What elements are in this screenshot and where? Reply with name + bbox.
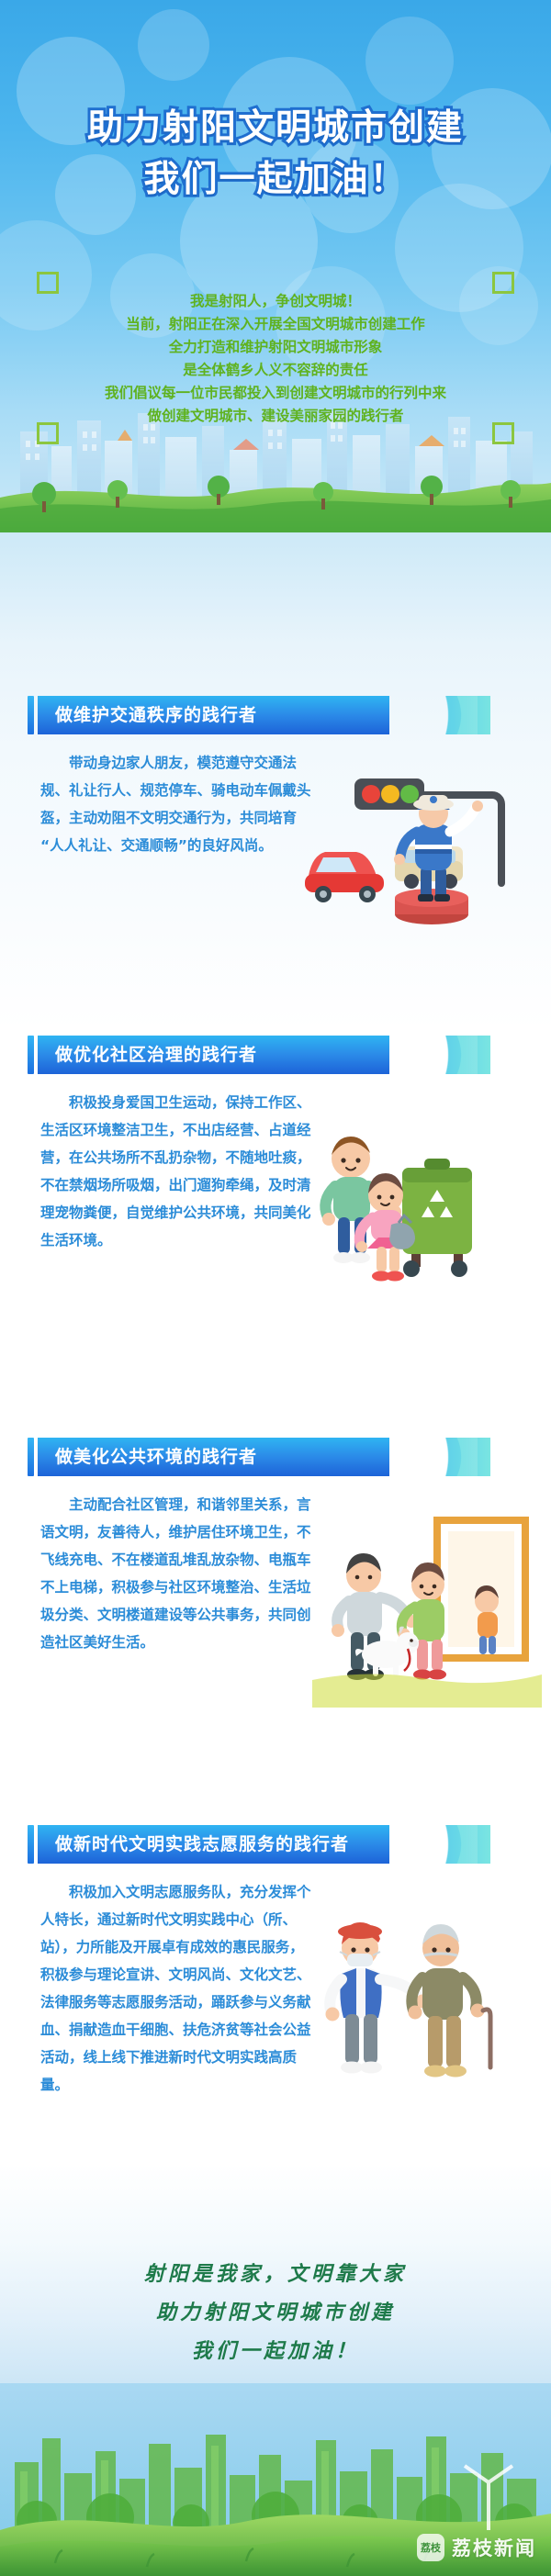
accent-bar — [28, 696, 34, 734]
traffic-light-yellow — [381, 785, 399, 803]
traffic-light-red — [362, 785, 380, 803]
slogan-line-3: 我们一起加油！ — [0, 2332, 551, 2370]
neighbors-greeting-illustration — [312, 1506, 542, 1712]
corner-bracket-top-right — [492, 272, 514, 294]
header-bar-tail-light — [437, 1825, 478, 1864]
bokeh-circle — [365, 17, 454, 105]
section-body-text: 积极加入文明志愿服务队，充分发挥个人特长，通过新时代文明实践中心（所、站），力所… — [40, 1878, 312, 2099]
page-title: 助力射阳文明城市创建 我们一起加油！ — [0, 103, 551, 206]
corner-bracket-bottom-right — [492, 422, 514, 444]
slogan-line-1: 射阳是我家，文明靠大家 — [0, 2255, 551, 2293]
intro-line: 全力打造和维护射阳文明城市形象 — [46, 336, 505, 359]
header-bar-tail-light — [437, 1438, 478, 1476]
section-header: 做优化社区治理的践行者 — [28, 1036, 468, 1074]
intro-line: 当前，射阳正在深入开展全国文明城市创建工作 — [46, 313, 505, 336]
corner-bracket-top-left — [37, 272, 59, 294]
section-title: 做维护交通秩序的践行者 — [55, 696, 257, 734]
volunteer-helping-elder-illustration — [303, 1891, 533, 2125]
lizhi-logo-icon: 荔枝 — [417, 2534, 444, 2561]
red-car — [305, 852, 384, 902]
accent-bar — [28, 1036, 34, 1074]
section-header: 做维护交通秩序的践行者 — [28, 696, 468, 734]
header-bar-tail-light — [437, 696, 478, 734]
intro-line: 我们倡议每一位市民都投入到创建文明城市的行列中来 — [46, 382, 505, 405]
recycling-children-illustration — [303, 1111, 533, 1313]
walking-cane — [483, 2010, 490, 2067]
section-header: 做美化公共环境的践行者 — [28, 1438, 468, 1476]
section-title: 做优化社区治理的践行者 — [55, 1036, 257, 1074]
section-body-text: 积极投身爱国卫生运动，保持工作区、生活区环境整洁卫生，不出店经营、占道经营，在公… — [40, 1089, 312, 1254]
intro-line: 做创建文明城市、建设美丽家园的践行者 — [46, 405, 505, 428]
recycling-bin — [402, 1159, 472, 1277]
corner-bracket-bottom-left — [37, 422, 59, 444]
intro-box: 我是射阳人，争创文明城！ 当前，射阳正在深入开展全国文明城市创建工作 全力打造和… — [37, 272, 514, 444]
accent-bar — [28, 1825, 34, 1864]
section-title: 做美化公共环境的践行者 — [55, 1438, 257, 1476]
section-body-text: 主动配合社区管理，和谐邻里关系，言语文明，友善待人，维护居住环境卫生，不飞线充电… — [40, 1491, 312, 1656]
footer-slogan: 射阳是我家，文明靠大家 助力射阳文明城市创建 我们一起加油！ — [0, 2255, 551, 2370]
title-line-2: 我们一起加油！ — [0, 154, 551, 206]
title-line-1: 助力射阳文明城市创建 — [0, 103, 551, 154]
intro-line: 是全体鹤乡人义不容辞的责任 — [46, 359, 505, 382]
accent-bar — [28, 1438, 34, 1476]
section-header: 做新时代文明实践志愿服务的践行者 — [28, 1825, 468, 1864]
slogan-line-2: 助力射阳文明城市创建 — [0, 2293, 551, 2332]
intro-line: 我是射阳人，争创文明城！ — [46, 290, 505, 313]
section-title: 做新时代文明实践志愿服务的践行者 — [55, 1825, 349, 1864]
traffic-light-green — [400, 785, 419, 803]
bokeh-circle — [138, 9, 209, 81]
section-body-text: 带动身边家人朋友，模范遵守交通法规、礼让行人、规范停车、骑电动车佩戴头盔，主动劝… — [40, 749, 312, 859]
poster-page: 助力射阳文明城市创建 我们一起加油！ 我是射阳人，争创文明城！ 当前，射阳正在深… — [0, 0, 551, 2576]
header-bar-tail-light — [437, 1036, 478, 1074]
watermark: 荔枝 荔枝新闻 — [417, 2534, 536, 2561]
traffic-police-illustration — [303, 758, 533, 937]
watermark-text: 荔枝新闻 — [452, 2534, 536, 2561]
